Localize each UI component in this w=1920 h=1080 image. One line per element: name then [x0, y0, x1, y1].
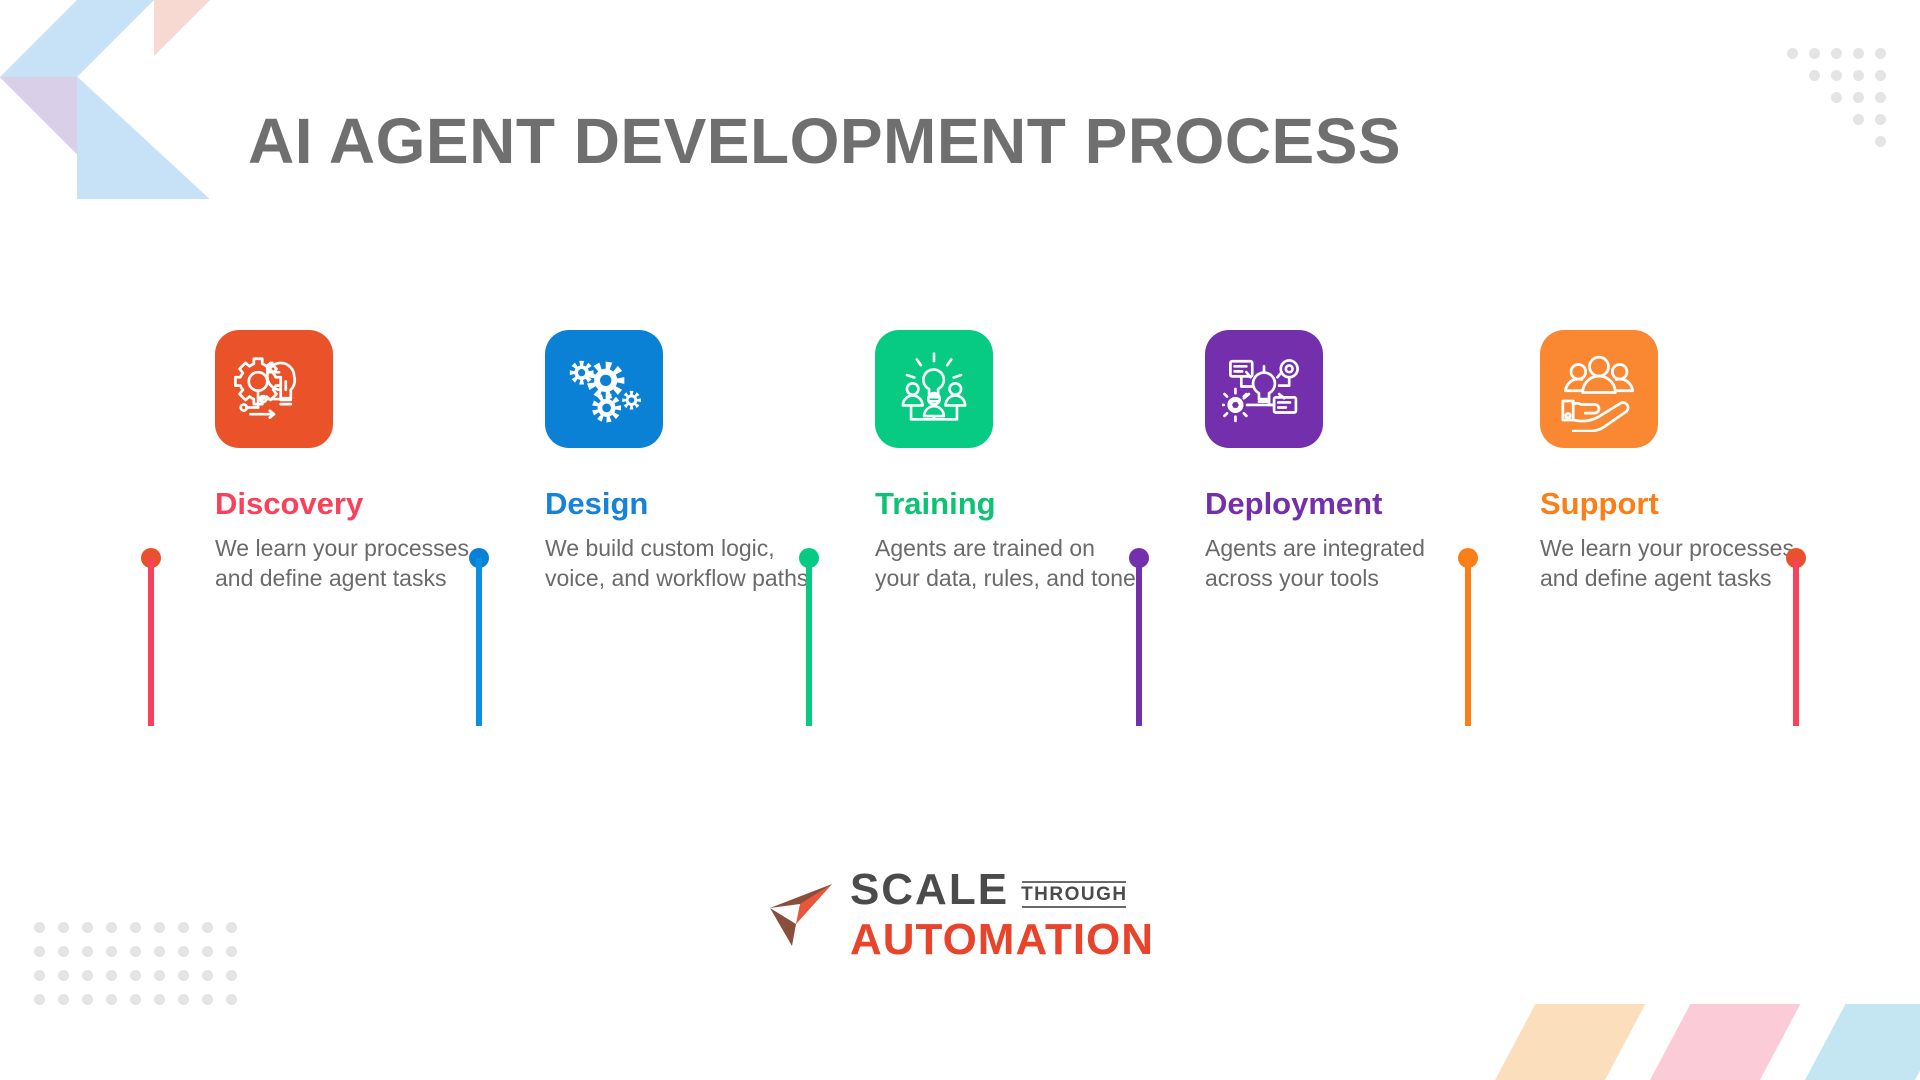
gear-lightbulb-circuit-icon [232, 347, 316, 431]
decor-slant-bar [1805, 1004, 1920, 1080]
process-step-discovery: Discovery We learn your processes and de… [215, 330, 545, 594]
decor-dot [154, 970, 165, 981]
decor-dot [1875, 92, 1886, 103]
dot-row [1776, 114, 1886, 136]
decor-dot [202, 970, 213, 981]
hand-people-icon [1556, 346, 1642, 432]
decor-dot [130, 994, 141, 1005]
decor-dot [130, 922, 141, 933]
decor-dot [1853, 70, 1864, 81]
decor-dot [106, 946, 117, 957]
dot-row [1776, 136, 1886, 158]
pin-line [1136, 558, 1142, 726]
support-description: We learn your processes and define agent… [1540, 533, 1810, 594]
decor-dot [226, 994, 237, 1005]
decor-dot [34, 946, 45, 957]
gears-icon [561, 346, 647, 432]
decor-dot [58, 922, 69, 933]
training-icon-tile[interactable] [875, 330, 993, 448]
decor-dot [1875, 48, 1886, 59]
decor-dot [34, 970, 45, 981]
decor-slant-bar [1650, 1004, 1800, 1080]
discovery-label: Discovery [215, 486, 545, 522]
decor-dot [1809, 70, 1820, 81]
decor-dot [1831, 48, 1842, 59]
page-title: AI AGENT DEVELOPMENT PROCESS [248, 104, 1401, 178]
design-label: Design [545, 486, 875, 522]
pin-line [806, 558, 812, 726]
decor-dot [154, 994, 165, 1005]
pin-line [1465, 558, 1471, 726]
decor-dot [106, 970, 117, 981]
decor-dot [1853, 114, 1864, 125]
decor-dot [178, 922, 189, 933]
decor-dot [58, 970, 69, 981]
design-icon-tile[interactable] [545, 330, 663, 448]
decor-dot [34, 922, 45, 933]
decor-dot [226, 970, 237, 981]
dot-row [34, 994, 250, 1018]
decor-dot [82, 922, 93, 933]
decor-dot [154, 946, 165, 957]
dot-row [34, 922, 250, 946]
decor-dot [178, 994, 189, 1005]
deployment-description: Agents are integrated across your tools [1205, 533, 1475, 594]
decor-dot [106, 994, 117, 1005]
decor-dot [202, 946, 213, 957]
decor-dot [58, 994, 69, 1005]
triangle-blue-large [77, 77, 209, 199]
triangle-purple [0, 77, 77, 154]
decor-dot [1853, 92, 1864, 103]
decor-dot [226, 946, 237, 957]
decor-bottom-right-bars [1450, 1004, 1920, 1080]
pin-line [1793, 558, 1799, 726]
decor-dot [58, 946, 69, 957]
pin-line [148, 558, 154, 726]
decor-dot [106, 922, 117, 933]
decor-dot [1809, 48, 1820, 59]
decor-top-right-dots [1776, 48, 1886, 158]
decor-dot [1875, 70, 1886, 81]
decor-dot [34, 994, 45, 1005]
discovery-icon-tile[interactable] [215, 330, 333, 448]
decor-dot [82, 970, 93, 981]
support-icon-tile[interactable] [1540, 330, 1658, 448]
lightbulb-team-icon [893, 348, 975, 430]
decor-dot [202, 994, 213, 1005]
discovery-description: We learn your processes and define agent… [215, 533, 485, 594]
decor-dot [1853, 48, 1864, 59]
process-step-design: Design We build custom logic, voice, and… [545, 330, 875, 594]
decor-dot [178, 946, 189, 957]
decor-dot [1875, 114, 1886, 125]
decor-dot [1831, 92, 1842, 103]
decor-slant-bar [1495, 1004, 1645, 1080]
process-step-training: Training Agents are trained on your data… [875, 330, 1205, 594]
design-description: We build custom logic, voice, and workfl… [545, 533, 815, 594]
arrow-paper-plane-icon [766, 882, 836, 948]
process-step-support: Support We learn your processes and defi… [1540, 330, 1870, 594]
decor-bottom-left-dots [34, 922, 250, 1018]
triangle-pink [154, 0, 210, 56]
dot-row [1776, 70, 1886, 92]
triangle-top-left-blue [0, 0, 77, 77]
training-description: Agents are trained on your data, rules, … [875, 533, 1145, 594]
dot-row [34, 970, 250, 994]
decor-dot [178, 970, 189, 981]
pin-line [476, 558, 482, 726]
process-steps: Discovery We learn your processes and de… [0, 330, 1920, 740]
process-step-deployment: Deployment Agents are integrated across … [1205, 330, 1535, 594]
support-label: Support [1540, 486, 1870, 522]
dot-row [34, 946, 250, 970]
triangle-top-right-blue [77, 0, 154, 77]
decor-dot [1831, 70, 1842, 81]
decor-dot [82, 946, 93, 957]
decor-dot [1875, 136, 1886, 147]
logo-word-automation: AUTOMATION [850, 918, 1154, 962]
decor-dot [226, 922, 237, 933]
training-label: Training [875, 486, 1205, 522]
decor-dot [154, 922, 165, 933]
logo-word-scale: SCALE [850, 868, 1009, 912]
dot-row [1776, 92, 1886, 114]
decor-dot [130, 946, 141, 957]
decor-dot [1787, 48, 1798, 59]
decor-dot [202, 922, 213, 933]
logo-word-through-wrap: THROUGH [1021, 881, 1128, 912]
deployment-icon-tile[interactable] [1205, 330, 1323, 448]
decor-dot [130, 970, 141, 981]
lightbulb-network-icon [1222, 347, 1306, 431]
decor-dot [82, 994, 93, 1005]
brand-logo: SCALE THROUGH AUTOMATION [0, 868, 1920, 962]
logo-word-through: THROUGH [1021, 883, 1128, 906]
dot-row [1776, 48, 1886, 70]
decor-top-left-triangles [0, 0, 210, 196]
deployment-label: Deployment [1205, 486, 1535, 522]
